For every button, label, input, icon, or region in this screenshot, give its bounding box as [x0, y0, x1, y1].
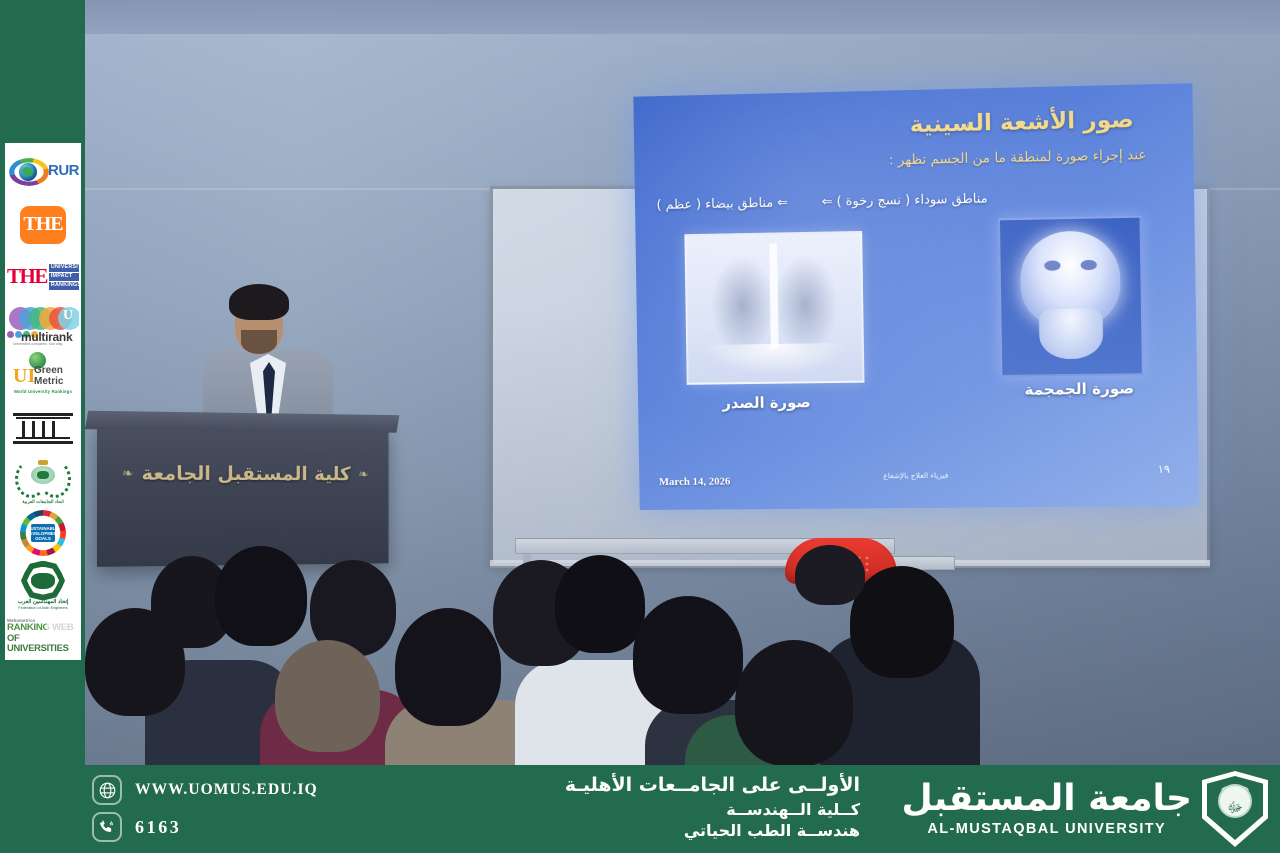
multirank-u-mark: U [63, 308, 73, 324]
federation-of-arab-engineers-logo: إتحاد المهندسين العرب Federation of Arab… [7, 560, 79, 612]
speaker-beard [241, 330, 277, 354]
slide-date: March 14, 2026 [659, 476, 731, 489]
temple-columns-icon [13, 409, 73, 449]
fae-english-label: Federation of Arab Engineers [15, 606, 71, 610]
impact-line-2: IMPACT [49, 273, 79, 281]
phone-row[interactable]: 6163 [92, 812, 422, 842]
audience-head [555, 555, 645, 653]
unesco-temple-logo [7, 403, 79, 453]
the-impact-wordmark: THE [7, 266, 47, 287]
faculty-block: الأولــى على الجامــعات الأهليـة كــلية … [400, 773, 860, 842]
globe-www-icon [92, 775, 122, 805]
rur-wordmark: RUR [48, 162, 79, 179]
slide-title: صور الأشعة السينية [910, 107, 1134, 138]
slide-course-footer: فيزياء العلاج بالإشعاع [883, 471, 948, 481]
university-crest-shield-icon: ﷻ [1202, 771, 1268, 847]
association-of-arab-universities-logo: اتحاد الجامعات العربية [7, 456, 79, 506]
podium-top-surface [85, 411, 399, 433]
crest-monogram: ﷻ [1227, 799, 1243, 819]
podium-label: كلية المستقبل الجامعة [142, 462, 351, 485]
page-footer: WWW.UOMUS.EDU.IQ 6163 الأولــى على الجام… [0, 765, 1280, 853]
ceiling-band [85, 0, 1280, 34]
phone-number[interactable]: 6163 [135, 817, 181, 838]
chest-xray-caption: صورة الصدر [722, 393, 811, 412]
slide-bullets: مناطق سوداء ( نسج رخوة ) ⇐ ⇐ مناطق بيضاء… [656, 188, 1163, 213]
website-row[interactable]: WWW.UOMUS.EDU.IQ [92, 775, 422, 805]
lecture-podium: ❧ كلية المستقبل الجامعة ❧ [97, 423, 389, 567]
audience-head [633, 596, 743, 714]
screenshot-root: س صور الأشعة السينية عند إجراء صورة لمنط… [0, 0, 1280, 853]
ui-greenmetric-logo: UI Green Metric World University Ranking… [7, 351, 79, 401]
audience-head [395, 608, 501, 726]
greenmetric-line-2: Metric [34, 376, 63, 387]
skull-orbit-left [1044, 260, 1060, 271]
brand-text: جامعة المستقبل AL-MUSTAQBAL UNIVERSITY [902, 781, 1193, 837]
lecture-photograph: س صور الأشعة السينية عند إجراء صورة لمنط… [85, 0, 1280, 765]
webometrics-logo: Webometrics RANKING WEB OF UNIVERSITIES [7, 615, 79, 656]
slide-page-number: ١٩ [1158, 463, 1170, 476]
fae-arabic-label: إتحاد المهندسين العرب [15, 599, 71, 605]
the-wordmark: THE [23, 213, 62, 236]
skull-xray-image [998, 216, 1144, 377]
faculty-line-3: هندســة الطب الحياتي [400, 820, 860, 842]
audience-head [795, 545, 865, 605]
u-multirank-logo: U multirank Universities compared. Your … [7, 304, 79, 349]
greenmetric-ui-mark: UI [13, 365, 35, 388]
faculty-line-1: الأولــى على الجامــعات الأهليـة [400, 773, 860, 799]
phone-ring-icon [92, 812, 122, 842]
projected-slide: س صور الأشعة السينية عند إجراء صورة لمنط… [633, 83, 1199, 510]
fae-calligraphy-icon [31, 573, 55, 589]
sustainable-development-goals-logo: SUSTAINABLE DEVELOPMENT GOALS [7, 508, 79, 558]
audience-head [215, 546, 307, 646]
podium-ornament-left: ❧ [122, 465, 133, 481]
sdg-label: SUSTAINABLE DEVELOPMENT GOALS [31, 524, 55, 542]
podium-name-plate: ❧ كلية المستقبل الجامعة ❧ [122, 448, 369, 499]
wreath-laurel-icon: اتحاد الجامعات العربية [11, 457, 75, 505]
speaker-hair [229, 284, 289, 320]
greenmetric-line-1: Green [34, 365, 63, 376]
slide-bullet-soft-tissue: مناطق سوداء ( نسج رخوة ) ⇐ [822, 191, 988, 209]
brand-name-english: AL-MUSTAQBAL UNIVERSITY [902, 821, 1193, 837]
rur-rankings-logo: RUR [7, 147, 79, 197]
slide-intro-line: عند إجراء صورة لمنطقة ما من الجسم تظهر : [889, 147, 1147, 169]
greenmetric-wordmark: Green Metric [34, 366, 63, 387]
multirank-tagline: Universities compared. Your way. [13, 342, 63, 346]
times-higher-education-logo: THE [7, 199, 79, 249]
university-brand-block: جامعة المستقبل AL-MUSTAQBAL UNIVERSITY ﷻ [902, 771, 1269, 847]
accreditation-logo-strip: RUR THE THE UNIVERSITY IMPACT RANKINGS [5, 143, 81, 660]
slide-bullet-bone: ⇐ مناطق بيضاء ( عظم ) [656, 195, 788, 212]
chest-xray-image [684, 231, 864, 385]
the-orange-badge-icon: THE [20, 206, 66, 244]
the-impact-rankings-logo: THE UNIVERSITY IMPACT RANKINGS [7, 252, 79, 302]
audience-head [735, 640, 853, 765]
brand-name-arabic: جامعة المستقبل [902, 781, 1193, 817]
podium-ornament-right: ❧ [358, 467, 368, 483]
skull-orbit-right [1080, 260, 1096, 271]
impact-line-3: RANKINGS [49, 282, 79, 290]
skull-jaw-shape [1039, 308, 1104, 358]
greenmetric-tagline: World University Rankings [7, 389, 79, 394]
impact-line-1: UNIVERSITY [49, 264, 79, 272]
webometrics-line-3: OF UNIVERSITIES [7, 633, 79, 653]
arab-universities-label: اتحاد الجامعات العربية [11, 499, 75, 505]
faculty-line-2: كــلية الــهندســة [400, 799, 860, 821]
skull-xray-caption: صورة الجمجمة [1024, 379, 1134, 398]
website-url[interactable]: WWW.UOMUS.EDU.IQ [135, 781, 318, 799]
audience-head-hijab [275, 640, 380, 752]
audience-head [85, 608, 185, 716]
audience-head [850, 566, 954, 678]
contact-block: WWW.UOMUS.EDU.IQ 6163 [92, 775, 422, 849]
